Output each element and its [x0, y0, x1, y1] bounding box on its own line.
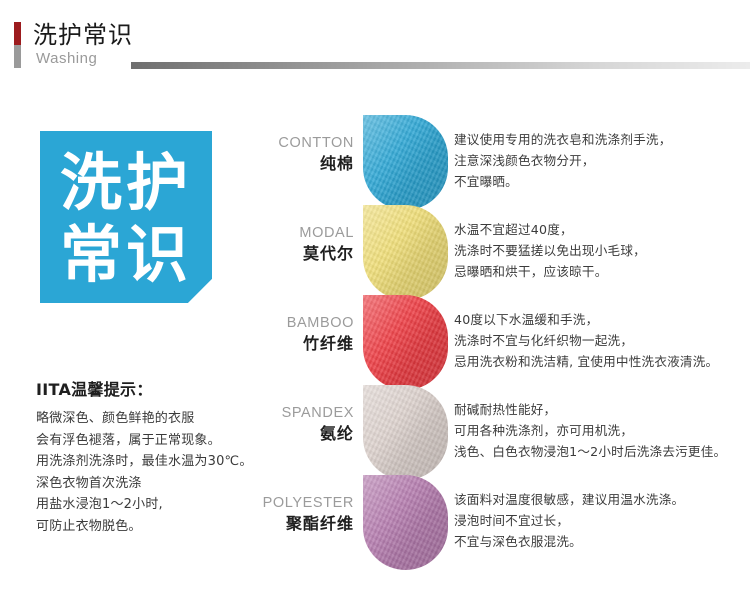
- header-divider: [131, 62, 750, 69]
- fabric-swatch: [363, 295, 448, 390]
- fabric-desc-line: 该面料对温度很敏感，建议用温水洗涤。: [454, 489, 750, 510]
- fabric-desc-line: 耐碱耐热性能好，: [454, 399, 750, 420]
- tips-title: IITA温馨提示：: [36, 378, 266, 402]
- fabric-name-cn: 聚酯纤维: [258, 513, 354, 535]
- fabric-desc-line: 洗涤时不宜与化纤织物一起洗，: [454, 330, 750, 351]
- fabric-swatch: [363, 205, 448, 300]
- fabric-desc-line: 不宜曝晒。: [454, 171, 750, 192]
- fabric-label: SPANDEX 氨纶: [258, 404, 354, 445]
- fabric-desc-line: 洗涤时不要猛搓以免出现小毛球，: [454, 240, 750, 261]
- fabric-name-en: MODAL: [258, 224, 354, 243]
- fabric-row: SPANDEX 氨纶 耐碱耐热性能好， 可用各种洗涤剂，亦可用机洗， 浅色、白色…: [258, 390, 750, 480]
- fabric-desc-line: 忌用洗衣粉和洗洁精, 宜使用中性洗衣液清洗。: [454, 351, 750, 372]
- fabric-description: 水温不宜超过40度， 洗涤时不要猛搓以免出现小毛球， 忌曝晒和烘干，应该晾干。: [454, 219, 750, 282]
- fabric-desc-line: 40度以下水温缓和手洗，: [454, 309, 750, 330]
- fabric-row: MODAL 莫代尔 水温不宜超过40度， 洗涤时不要猛搓以免出现小毛球， 忌曝晒…: [258, 210, 750, 300]
- fabric-row: CONTTON 纯棉 建议使用专用的洗衣皂和洗涤剂手洗， 注意深浅颜色衣物分开，…: [258, 120, 750, 210]
- fabric-desc-line: 忌曝晒和烘干，应该晾干。: [454, 261, 750, 282]
- tips-line: 用盐水浸泡1～2小时,: [36, 494, 266, 516]
- logo-line-1: 洗护: [40, 131, 212, 219]
- fabric-label: MODAL 莫代尔: [258, 224, 354, 265]
- fabric-care-list: CONTTON 纯棉 建议使用专用的洗衣皂和洗涤剂手洗， 注意深浅颜色衣物分开，…: [258, 120, 750, 570]
- fabric-label: POLYESTER 聚酯纤维: [258, 494, 354, 535]
- tips-line: 可防止衣物脱色。: [36, 516, 266, 538]
- page-subtitle: Washing: [36, 49, 97, 69]
- fabric-desc-line: 不宜与深色衣服混洗。: [454, 531, 750, 552]
- fabric-name-en: SPANDEX: [258, 404, 354, 423]
- fabric-description: 该面料对温度很敏感，建议用温水洗涤。 浸泡时间不宜过长， 不宜与深色衣服混洗。: [454, 489, 750, 552]
- fabric-desc-line: 浅色、白色衣物浸泡1～2小时后洗涤去污更佳。: [454, 441, 750, 462]
- fabric-swatch: [363, 115, 448, 210]
- fabric-label: CONTTON 纯棉: [258, 134, 354, 175]
- page-title: 洗护常识: [33, 20, 133, 50]
- fabric-desc-line: 注意深浅颜色衣物分开，: [454, 150, 750, 171]
- fabric-row: POLYESTER 聚酯纤维 该面料对温度很敏感，建议用温水洗涤。 浸泡时间不宜…: [258, 480, 750, 570]
- tips-line: 略微深色、颜色鲜艳的衣服: [36, 408, 266, 430]
- fabric-shine: [363, 295, 448, 390]
- logo-line-2: 常识: [40, 219, 212, 291]
- fabric-description: 40度以下水温缓和手洗， 洗涤时不宜与化纤织物一起洗， 忌用洗衣粉和洗洁精, 宜…: [454, 309, 750, 372]
- fabric-label: BAMBOO 竹纤维: [258, 314, 354, 355]
- fabric-desc-line: 可用各种洗涤剂，亦可用机洗，: [454, 420, 750, 441]
- fabric-shine: [363, 115, 448, 210]
- tips-line: 深色衣物首次洗涤: [36, 473, 266, 495]
- fabric-shine: [363, 385, 448, 480]
- header-accent-bar: [14, 22, 21, 68]
- header-accent-red-segment: [14, 22, 21, 45]
- washing-care-infographic: 洗护常识 Washing 洗护 常识 IITA温馨提示： 略微深色、颜色鲜艳的衣…: [0, 0, 750, 609]
- tips-block: IITA温馨提示： 略微深色、颜色鲜艳的衣服 会有浮色褪落，属于正常现象。 用洗…: [36, 378, 266, 537]
- tips-line: 会有浮色褪落，属于正常现象。: [36, 430, 266, 452]
- fabric-description: 耐碱耐热性能好， 可用各种洗涤剂，亦可用机洗， 浅色、白色衣物浸泡1～2小时后洗…: [454, 399, 750, 462]
- fabric-name-en: POLYESTER: [258, 494, 354, 513]
- header-accent-gray-segment: [14, 45, 21, 68]
- fabric-swatch: [363, 475, 448, 570]
- fabric-name-cn: 竹纤维: [258, 333, 354, 355]
- fabric-swatch: [363, 385, 448, 480]
- fabric-name-cn: 氨纶: [258, 423, 354, 445]
- fabric-name-cn: 纯棉: [258, 153, 354, 175]
- fabric-row: BAMBOO 竹纤维 40度以下水温缓和手洗， 洗涤时不宜与化纤织物一起洗， 忌…: [258, 300, 750, 390]
- fabric-description: 建议使用专用的洗衣皂和洗涤剂手洗， 注意深浅颜色衣物分开， 不宜曝晒。: [454, 129, 750, 192]
- fabric-name-cn: 莫代尔: [258, 243, 354, 265]
- fabric-shine: [363, 205, 448, 300]
- fabric-desc-line: 建议使用专用的洗衣皂和洗涤剂手洗，: [454, 129, 750, 150]
- tips-line: 用洗涤剂洗涤时，最佳水温为30℃。: [36, 451, 266, 473]
- washing-logo-badge: 洗护 常识: [40, 131, 212, 303]
- page-header: 洗护常识 Washing: [0, 0, 750, 92]
- fabric-name-en: CONTTON: [258, 134, 354, 153]
- fabric-desc-line: 浸泡时间不宜过长，: [454, 510, 750, 531]
- fabric-desc-line: 水温不宜超过40度，: [454, 219, 750, 240]
- fabric-shine: [363, 475, 448, 570]
- fabric-name-en: BAMBOO: [258, 314, 354, 333]
- tips-lines: 略微深色、颜色鲜艳的衣服 会有浮色褪落，属于正常现象。 用洗涤剂洗涤时，最佳水温…: [36, 408, 266, 537]
